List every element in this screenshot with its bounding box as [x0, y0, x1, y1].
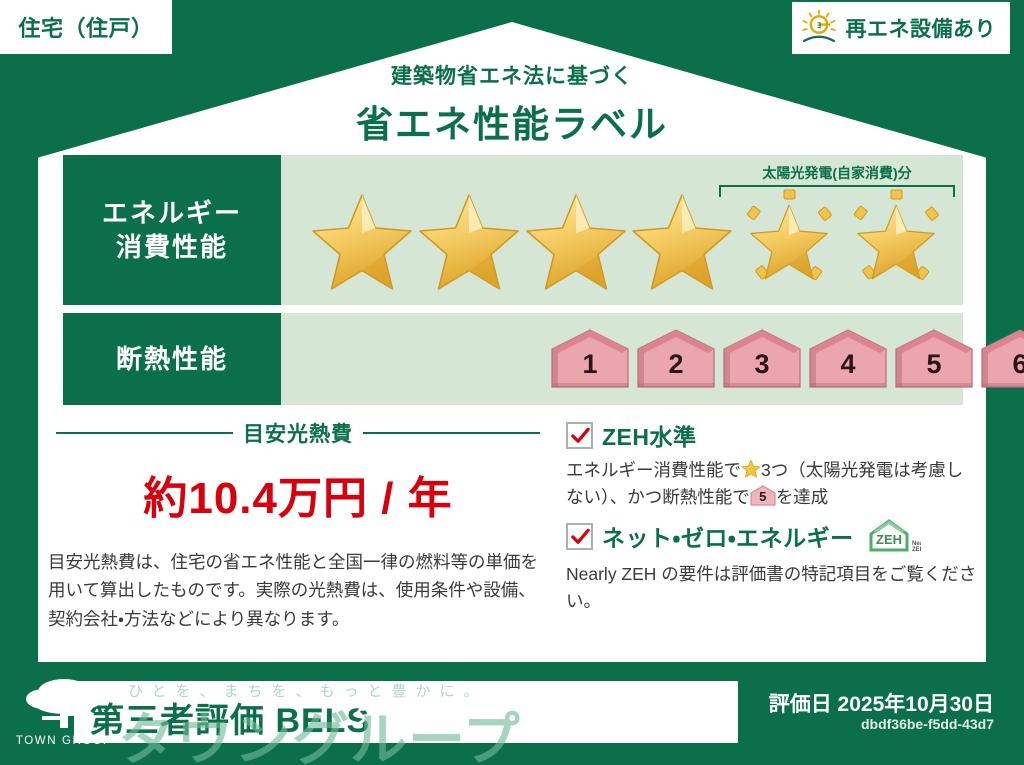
solar-sun-icon: ﾖ [800, 8, 840, 48]
insulation-level-value: 1 [549, 349, 631, 380]
insulation-level-scale: 1234567 [309, 327, 949, 391]
net-zero-energy-description: Nearly ZEH の要件は評価書の特記項目をご覧ください。 [566, 561, 978, 614]
svg-text:ZEH: ZEH [912, 547, 921, 553]
insulation-level-value: 2 [635, 349, 717, 380]
insulation-level-value: 4 [807, 349, 889, 380]
tree-logo-icon [4, 672, 124, 734]
bels-certification-text: 第三者評価 BELS [90, 693, 370, 742]
energy-star-rating [309, 183, 949, 301]
property-name: グラシウス桜山高田 203号室 [352, 696, 681, 730]
insulation-level-value: 3 [721, 349, 803, 380]
energy-performance-label: エネルギー 消費性能 [63, 155, 281, 305]
evaluation-date: 評価日 2025年10月30日 [769, 688, 994, 718]
insulation-rating-area: 1234567 [281, 313, 963, 405]
insulation-level-4: 4 [807, 327, 889, 391]
insulation-performance-label: 断熱性能 [63, 313, 281, 405]
net-zero-energy-heading: ネット・ゼロ・エネルギー ZEH Nearly ZEH [566, 516, 978, 556]
zeh-section: ZEH水準 エネルギー消費性能で3つ（太陽光発電は考慮しない）、かつ断熱性能で5… [558, 418, 978, 650]
star-icon-solar [736, 189, 842, 295]
insulation-level-2: 2 [635, 327, 717, 391]
energy-rating-area: 太陽光発電(自家消費)分 [281, 155, 963, 305]
performance-block: エネルギー 消費性能 太陽光発電(自家消費)分 断熱性能 1234567 [63, 155, 963, 405]
svg-text:ZEH: ZEH [876, 532, 902, 547]
title-main: 省エネ性能ラベル [0, 94, 1024, 148]
zeh-standard-title: ZEH水準 [602, 418, 697, 452]
utility-cost-note: 目安光熱費は、住宅の省エネ性能と全国一律の燃料等の単価を用いて算出したものです。… [48, 548, 548, 633]
town-group-name: TOWN GROUP [4, 735, 124, 747]
zeh-text-part1: エネルギー消費性能で [566, 460, 741, 480]
title-subtitle: 建築物省エネ法に基づく [0, 60, 1024, 90]
insulation-level-3: 3 [721, 327, 803, 391]
net-zero-energy-item: ネット・ゼロ・エネルギー ZEH Nearly ZEH Nearly ZEH の… [566, 516, 978, 614]
zeh-text-part3: を達成 [776, 487, 829, 507]
star-icon [741, 459, 761, 479]
insulation-level-badge-icon: 5 [750, 485, 776, 506]
insulation-performance-row: 断熱性能 1234567 [63, 313, 963, 405]
lower-content: 目安光熱費 約10.4万円 / 年 目安光熱費は、住宅の省エネ性能と全国一律の燃… [48, 418, 978, 650]
building-type-tag: 住宅（住戸） [0, 0, 172, 54]
solar-bracket-caption: 太陽光発電(自家消費)分 [719, 163, 955, 183]
utility-cost-heading: 目安光熱費 [48, 418, 548, 448]
star-icon [523, 189, 629, 295]
svg-text:ﾖ: ﾖ [817, 21, 821, 30]
zeh-standard-heading: ZEH水準 [566, 418, 978, 452]
insulation-level-6: 6 [979, 327, 1024, 391]
energy-label-line1: エネルギー [102, 196, 242, 230]
net-zero-energy-title: ネット・ゼロ・エネルギー [602, 519, 854, 553]
zeh-nearly-logo-icon: ZEH Nearly ZEH [865, 516, 921, 556]
star-icon [416, 189, 522, 295]
town-group-logo: TOWN GROUP [4, 672, 124, 760]
insulation-level-value: 5 [893, 349, 975, 380]
insulation-label-text: 断熱性能 [116, 342, 228, 376]
utility-cost-value: 約10.4万円 / 年 [48, 462, 548, 526]
star-icon [309, 189, 415, 295]
zeh-standard-item: ZEH水準 エネルギー消費性能で3つ（太陽光発電は考慮しない）、かつ断熱性能で5… [566, 418, 978, 510]
zeh-standard-description: エネルギー消費性能で3つ（太陽光発電は考慮しない）、かつ断熱性能で5を達成 [566, 457, 978, 510]
heading-rule-left [56, 432, 233, 434]
energy-label-line2: 消費性能 [116, 230, 228, 264]
star-icon [629, 189, 735, 295]
row-divider [63, 305, 963, 313]
checkbox-checked-icon [566, 422, 593, 449]
star-icon-solar [843, 189, 949, 295]
evaluation-id: dbdf36be-f5dd-43d7 [861, 716, 994, 732]
energy-performance-row: エネルギー 消費性能 太陽光発電(自家消費)分 [63, 155, 963, 305]
checkbox-checked-icon [566, 523, 593, 550]
heading-rule-right [363, 432, 540, 434]
building-type-label: 住宅（住戸） [18, 11, 153, 43]
insulation-badge-value: 5 [750, 487, 776, 507]
utility-cost-heading-text: 目安光熱費 [243, 418, 353, 448]
insulation-level-1: 1 [549, 327, 631, 391]
renewable-badge-label: 再エネ設備あり [846, 13, 997, 43]
utility-cost-section: 目安光熱費 約10.4万円 / 年 目安光熱費は、住宅の省エネ性能と全国一律の燃… [48, 418, 558, 650]
renewable-equipment-badge: ﾖ 再エネ設備あり [792, 2, 1011, 54]
insulation-level-5: 5 [893, 327, 975, 391]
insulation-level-value: 6 [979, 349, 1024, 380]
energy-label-page: 住宅（住戸） ﾖ 再エネ設備あり 建 [0, 0, 1024, 765]
label-title: 建築物省エネ法に基づく 省エネ性能ラベル [0, 60, 1024, 148]
